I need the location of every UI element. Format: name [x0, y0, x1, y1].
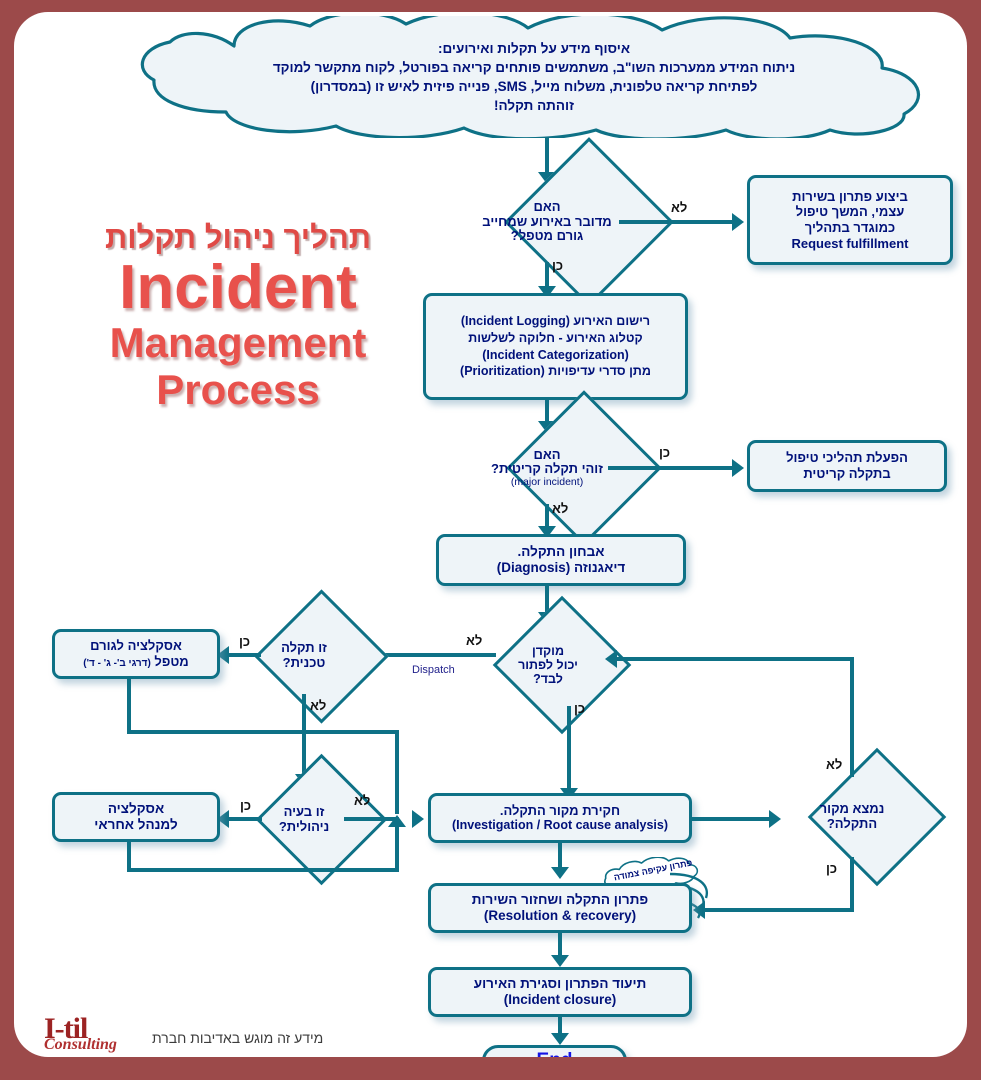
start-cloud-line-1: איסוף מידע על תקלות ואירועים:	[273, 39, 795, 58]
box-diagnosis[interactable]: אבחון התקלה. דיאגנוזה (Diagnosis)	[436, 534, 686, 586]
edge-escalate-tech-right	[127, 730, 399, 734]
box-resolution-recovery[interactable]: פתרון התקלה ושחזור השירות (Resolution & …	[428, 883, 692, 933]
box-request-fulfillment-text: ביצוע פתרון בשירות עצמי, המשך טיפול כמוג…	[750, 189, 950, 251]
box-line-1: פתרון התקלה ושחזור השירות	[437, 892, 683, 908]
box-line-4: מתן סדרי עדיפויות (Prioritization)	[432, 363, 679, 380]
box-incident-logging-text: רישום האירוע (Incident Logging) קטלוג הא…	[426, 313, 685, 381]
box-line-1: ביצוע פתרון בשירות	[756, 189, 944, 205]
itil-consulting-logo: I-til Consulting	[44, 1012, 117, 1054]
box-major-incident-process-text: הפעלת תהליכי טיפול בתקלה קריטית	[750, 450, 944, 481]
logging-he-1: רישום האירוע	[573, 314, 650, 328]
decision-is-managerial-text: זו בעיה ניהולית?	[240, 805, 368, 834]
box-line-1: אסקלציה לגורם	[61, 638, 211, 654]
box-line-2: (Resolution & recovery)	[437, 908, 683, 924]
edge-escalate-mgr-down	[127, 842, 131, 871]
box-incident-logging[interactable]: רישום האירוע (Incident Logging) קטלוג הא…	[423, 293, 688, 400]
edge-label-no: לא	[671, 200, 687, 215]
decision-root-cause-found-text: נמצא מקור התקלה?	[778, 802, 926, 831]
box-line-1: אסקלציה	[61, 801, 211, 817]
edge-label-yes: כן	[552, 258, 563, 273]
start-cloud-line-4: זוהתה תקלה!	[273, 96, 795, 115]
arrowhead-right	[732, 213, 744, 231]
box-end[interactable]: End	[482, 1045, 627, 1057]
box-incident-closure[interactable]: תיעוד הפתרון וסגירת האירוע (Incident clo…	[428, 967, 692, 1017]
box-line-2: עצמי, המשך טיפול	[756, 204, 944, 220]
start-cloud-text: איסוף מידע על תקלות ואירועים: ניתוח המיד…	[227, 39, 841, 116]
edge-no-loop-left	[614, 657, 854, 661]
box-line-1: חקירת מקור התקלה.	[437, 803, 683, 819]
arrowhead-right	[732, 459, 744, 477]
decision-line-2: התקלה?	[778, 817, 926, 832]
decision-line-1: האם	[455, 448, 639, 463]
edge-label-dispatch: Dispatch	[412, 664, 455, 676]
title-process: Process	[52, 366, 424, 413]
box-line-3: (Incident Categorization)	[432, 347, 679, 364]
page-frame: תהליך ניהול תקלות Incident Management Pr…	[0, 0, 981, 1080]
logo-line-2: Consulting	[44, 1036, 117, 1054]
title-incident: Incident	[52, 256, 424, 319]
box-escalate-technical-handler[interactable]: אסקלציה לגורם מטפל (דרגי ב'- ג' - ד')	[52, 629, 220, 679]
decision-is-managerial[interactable]: זו בעיה ניהולית?	[240, 780, 368, 860]
box-line-2: (Incident closure)	[437, 992, 683, 1008]
courtesy-credit: מידע זה מוגש באדיבות חברת	[152, 1030, 323, 1046]
title-hebrew: תהליך ניהול תקלות	[52, 220, 424, 256]
edge-escalate-tech-to-merge	[395, 730, 399, 814]
edge-yes-to-investigation	[567, 706, 571, 794]
decision-line-2: ניהולית?	[240, 820, 368, 835]
box-investigation-root-cause[interactable]: חקירת מקור התקלה. (Investigation / Root …	[428, 793, 692, 843]
edge-yes-down	[850, 857, 854, 912]
box-line-1: תיעוד הפתרון וסגירת האירוע	[437, 976, 683, 992]
arrowhead-down	[551, 1033, 569, 1045]
decision-line-1: זו תקלה	[239, 641, 369, 656]
edge-no-to-managerial	[302, 694, 306, 780]
page-title: תהליך ניהול תקלות Incident Management Pr…	[52, 220, 424, 413]
edge-escalate-tech-down	[127, 679, 131, 732]
box-escalate-technical-handler-text: אסקלציה לגורם מטפל (דרגי ב'- ג' - ד')	[55, 638, 217, 670]
box-request-fulfillment[interactable]: ביצוע פתרון בשירות עצמי, המשך טיפול כמוג…	[747, 175, 953, 265]
decision-root-cause-found[interactable]: נמצא מקור התקלה?	[778, 775, 926, 859]
escalate-he: מטפל	[154, 654, 188, 669]
decision-first-line-resolve[interactable]: מוקדן יכול לפתור לבד?	[485, 620, 611, 710]
edge-label-yes: כן	[826, 861, 837, 876]
decision-line-2: מדובר באירוע שמחייב	[445, 215, 649, 230]
decision-line-1: זו בעיה	[240, 805, 368, 820]
edge-label-no: לא	[310, 698, 326, 713]
diagnosis-he: דיאגנוזה	[574, 560, 625, 575]
logging-en-4: (Prioritization)	[460, 364, 545, 378]
box-resolution-recovery-text: פתרון התקלה ושחזור השירות (Resolution & …	[431, 892, 689, 924]
decision-line-1: מוקדן	[485, 644, 611, 658]
escalate-levels: (דרגי ב'- ג' - ד')	[83, 658, 150, 669]
decision-requires-handler-text: האם מדובר באירוע שמחייב גורם מטפל?	[445, 200, 649, 244]
diagram-canvas: תהליך ניהול תקלות Incident Management Pr…	[14, 12, 967, 1057]
start-cloud-line-2: ניתוח המידע ממערכות השו"ב, משתמשים פותחי…	[273, 58, 795, 77]
box-line-1: הפעלת תהליכי טיפול	[756, 450, 938, 466]
edge-escalate-mgr-right	[127, 868, 399, 872]
decision-major-incident[interactable]: האם זוהי תקלה קריטית? (major incident)	[455, 429, 639, 507]
diagnosis-en: (Diagnosis)	[497, 560, 571, 575]
box-line-2: מטפל (דרגי ב'- ג' - ד')	[61, 654, 211, 670]
box-line-2: (Investigation / Root cause analysis)	[437, 818, 683, 833]
decision-is-technical-text: זו תקלה טכנית?	[239, 641, 369, 670]
edge-yes-left-to-resolution	[702, 908, 852, 912]
box-end-label: End	[485, 1050, 624, 1057]
box-line-1: רישום האירוע (Incident Logging)	[432, 313, 679, 330]
edge-label-no: לא	[826, 757, 842, 772]
box-investigation-root-cause-text: חקירת מקור התקלה. (Investigation / Root …	[431, 803, 689, 834]
box-line-2: בתקלה קריטית	[756, 466, 938, 482]
box-escalate-manager[interactable]: אסקלציה למנהל אחראי	[52, 792, 220, 842]
arrowhead-down	[551, 867, 569, 879]
arrowhead-up	[388, 815, 406, 827]
box-diagnosis-text: אבחון התקלה. דיאגנוזה (Diagnosis)	[439, 544, 683, 576]
decision-line-3: לבד?	[485, 672, 611, 686]
decision-line-3: גורם מטפל?	[445, 229, 649, 244]
box-incident-closure-text: תיעוד הפתרון וסגירת האירוע (Incident clo…	[431, 976, 689, 1008]
decision-line-1: האם	[445, 200, 649, 215]
edge-label-no: לא	[552, 501, 568, 516]
edge-no-loop-up	[850, 657, 854, 777]
box-line-2: דיאגנוזה (Diagnosis)	[445, 560, 677, 576]
decision-is-technical[interactable]: זו תקלה טכנית?	[239, 616, 369, 696]
box-line-3: כמוגדר בתהליך	[756, 220, 944, 236]
box-line-4: Request fulfillment	[756, 236, 944, 252]
logging-he-4: מתן סדרי עדיפויות	[548, 364, 651, 378]
edge-label-no: לא	[466, 633, 482, 648]
decision-first-line-resolve-text: מוקדן יכול לפתור לבד?	[485, 644, 611, 686]
edge-label-yes: כן	[574, 701, 585, 716]
edge-cloud-to-service-check	[545, 138, 549, 176]
title-management: Management	[52, 319, 424, 366]
decision-major-incident-text: האם זוהי תקלה קריטית? (major incident)	[455, 448, 639, 489]
decision-line-1: נמצא מקור	[778, 802, 926, 817]
logging-he-2: קטלוג האירוע	[566, 331, 643, 345]
arrowhead-down	[551, 955, 569, 967]
decision-line-2: זוהי תקלה קריטית?	[455, 462, 639, 477]
start-cloud-line-3: לפתיחת קריאה טלפונית, משלוח מייל, SMS, פ…	[273, 77, 795, 96]
box-line-2: למנהל אחראי	[61, 817, 211, 833]
box-major-incident-process[interactable]: הפעלת תהליכי טיפול בתקלה קריטית	[747, 440, 947, 492]
decision-line-2: טכנית?	[239, 656, 369, 671]
edge-investigation-to-root-found	[692, 817, 772, 821]
logging-mid-2: - חלוקה לשלשות	[468, 331, 566, 345]
arrowhead-right	[412, 810, 424, 828]
edge-label-yes: כן	[659, 445, 670, 460]
decision-line-3: (major incident)	[455, 477, 639, 489]
logging-en-1: (Incident Logging)	[461, 314, 570, 328]
box-escalate-manager-text: אסקלציה למנהל אחראי	[55, 801, 217, 833]
start-cloud: איסוף מידע על תקלות ואירועים: ניתוח המיד…	[114, 16, 954, 138]
box-line-2: קטלוג האירוע - חלוקה לשלשות	[432, 330, 679, 347]
decision-line-2: יכול לפתור	[485, 658, 611, 672]
box-line-1: אבחון התקלה.	[445, 544, 677, 560]
edge-escalate-mgr-up	[395, 824, 399, 870]
decision-requires-handler[interactable]: האם מדובר באירוע שמחייב גורם מטפל?	[445, 180, 649, 264]
